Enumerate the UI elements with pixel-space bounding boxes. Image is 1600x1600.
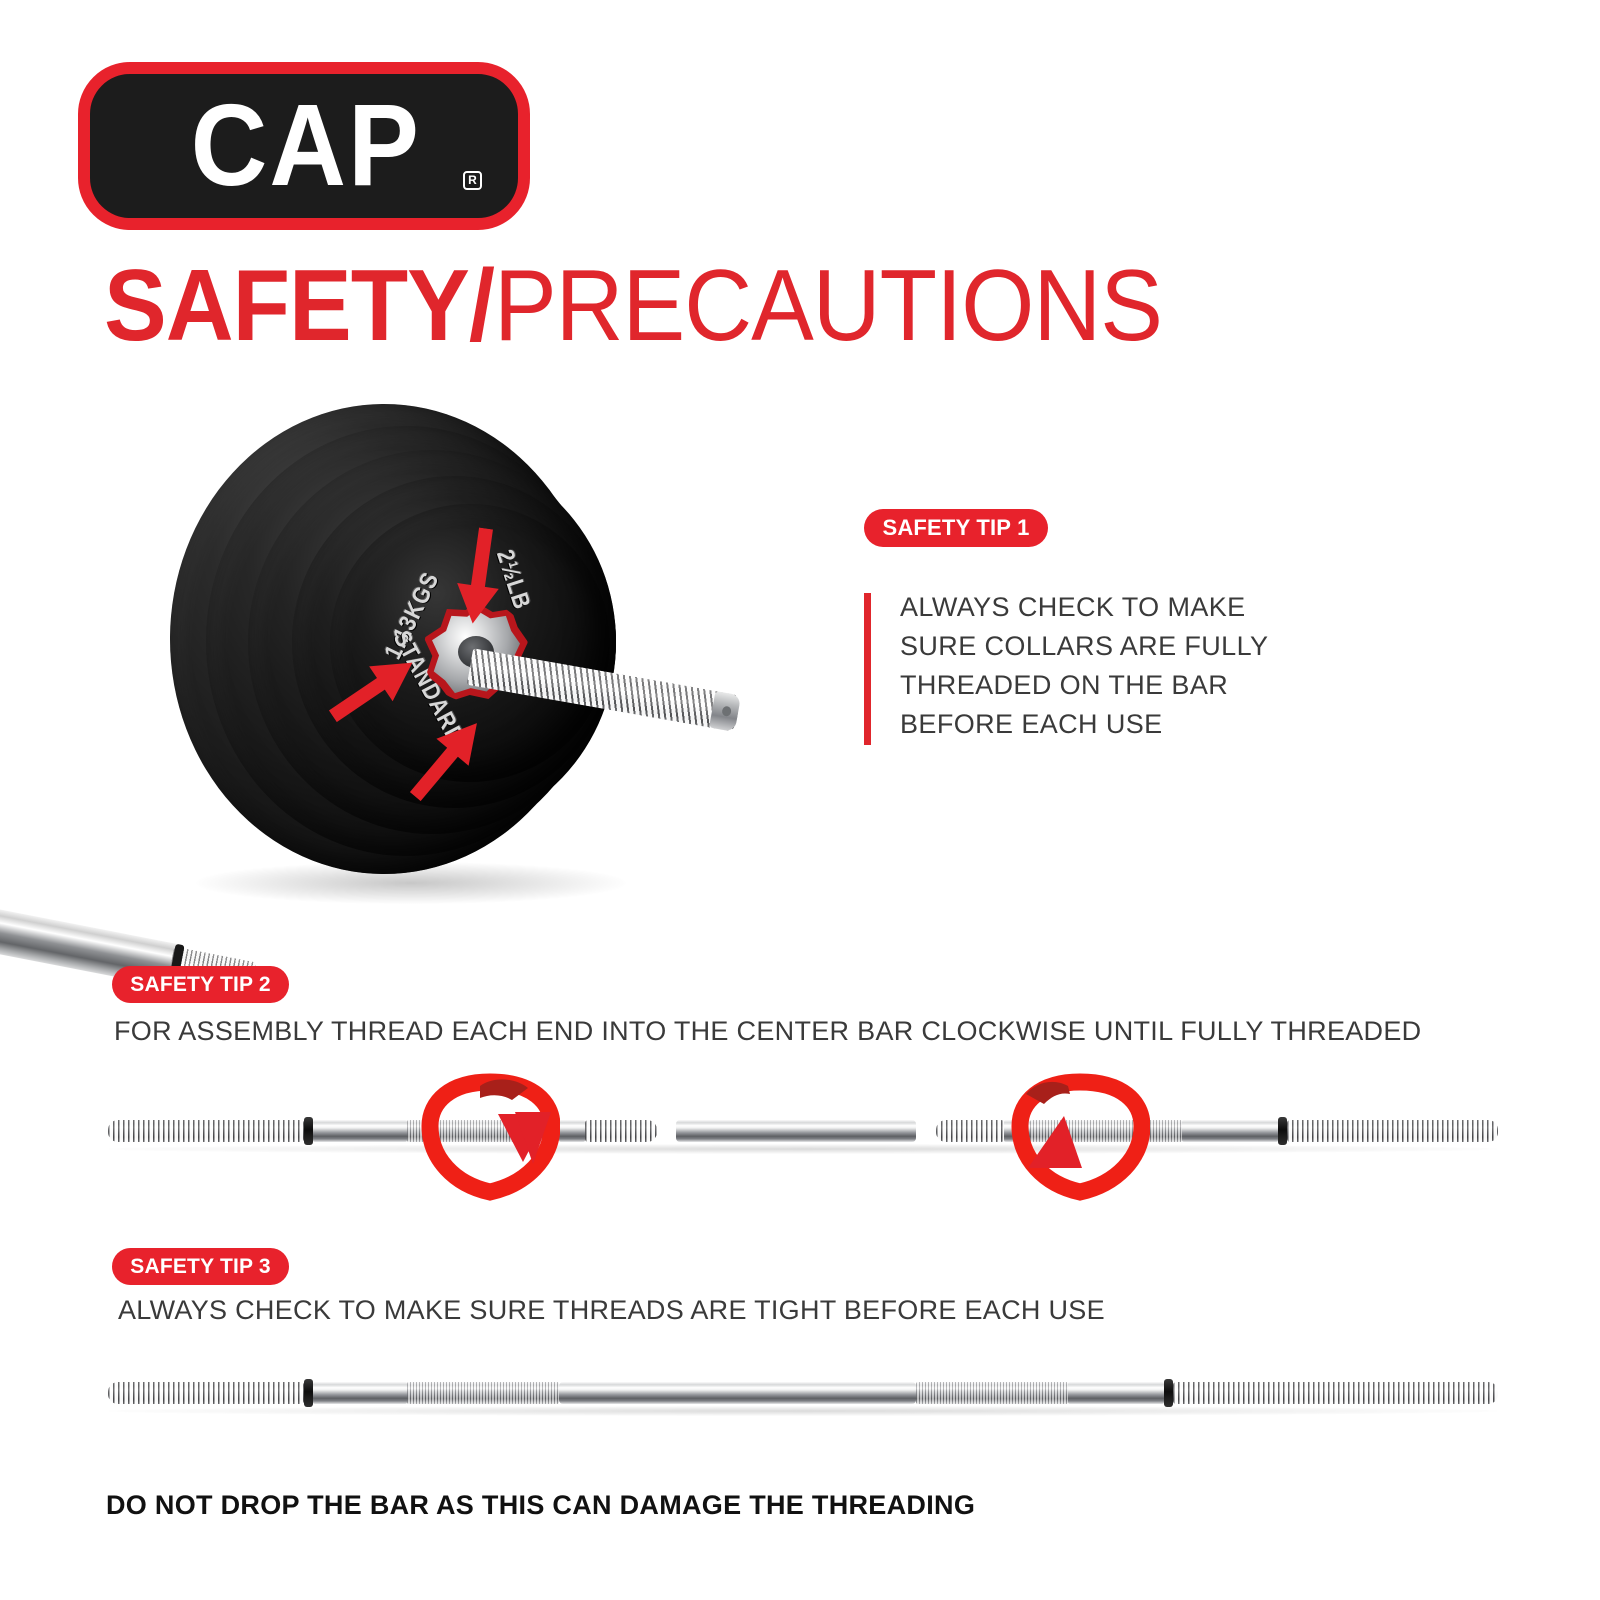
bar-ring-right <box>1278 1117 1287 1145</box>
bar-male-thread-right <box>936 1120 1004 1142</box>
bar-shadow <box>108 1406 1498 1416</box>
safety-tip-3-badge: SAFETY TIP 3 <box>112 1248 289 1285</box>
disassembled-barbell-diagram <box>108 1120 1498 1144</box>
safety-tip-2-badge: SAFETY TIP 2 <box>112 966 289 1003</box>
cap-brand-logo: CAP R <box>78 62 530 230</box>
footer-warning-text: DO NOT DROP THE BAR AS THIS CAN DAMAGE T… <box>106 1490 975 1521</box>
weight-plate-photo: 1.13KGS 2½LB STANDARD <box>0 380 800 960</box>
barbell-end-cap <box>709 691 741 732</box>
registered-trademark-icon: R <box>463 171 482 190</box>
assembled-thread-right <box>1173 1382 1498 1404</box>
assembled-knurl-left <box>407 1382 559 1404</box>
assembled-knurl-right <box>916 1382 1068 1404</box>
bar-collar-left <box>559 1120 585 1142</box>
safety-precautions-page: CAP R SAFETY/ PRECAUTIONS 1.13KGS 2½LB S… <box>0 0 1600 1600</box>
assembled-barbell-diagram <box>108 1382 1498 1406</box>
rotate-clockwise-icon <box>420 1072 560 1207</box>
bar-sleeve-right <box>1182 1120 1278 1142</box>
bar-sleeve-left <box>313 1120 407 1142</box>
safety-tip-2-text: FOR ASSEMBLY THREAD EACH END INTO THE CE… <box>114 1016 1421 1047</box>
bar-shadow <box>108 1144 1498 1154</box>
bar-thread-left <box>108 1120 304 1142</box>
safety-tip-1-accent-bar <box>864 593 871 745</box>
bar-thread-right <box>1287 1120 1498 1142</box>
page-title-thin: PRECAUTIONS <box>494 254 1162 356</box>
assembled-ring-left <box>304 1379 313 1407</box>
assembled-ring-right <box>1164 1379 1173 1407</box>
assembled-sleeve-right <box>1068 1382 1164 1404</box>
bar-ring-left <box>304 1117 313 1145</box>
safety-tip-1-text: ALWAYS CHECK TO MAKE SURE COLLARS ARE FU… <box>900 588 1320 744</box>
page-title: SAFETY/ PRECAUTIONS <box>104 262 1162 356</box>
safety-tip-1-badge: SAFETY TIP 1 <box>864 509 1048 547</box>
assembled-center-section <box>559 1382 916 1404</box>
bar-center-section <box>676 1120 916 1142</box>
assembled-thread-left <box>108 1382 304 1404</box>
rotate-counterclockwise-icon <box>1010 1072 1150 1207</box>
assembled-sleeve-left <box>313 1382 407 1404</box>
logo-wordmark: CAP <box>187 88 421 204</box>
page-title-bold: SAFETY/ <box>104 254 494 356</box>
bar-male-thread-left <box>585 1120 657 1142</box>
safety-tip-3-text: ALWAYS CHECK TO MAKE SURE THREADS ARE TI… <box>118 1295 1105 1326</box>
